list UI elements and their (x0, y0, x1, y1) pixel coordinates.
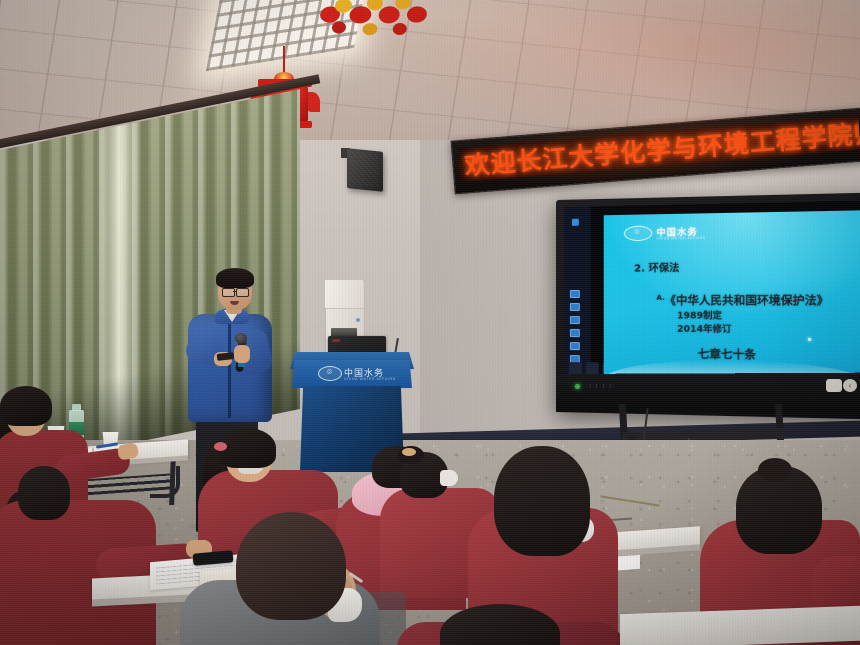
toolbar-icon[interactable] (570, 303, 580, 311)
slide-enacted-year: 1989制定 (677, 308, 722, 322)
slide-revised-year: 2014年修订 (677, 321, 731, 335)
slide-item-title: 《中华人民共和国环境保护法》 (665, 291, 829, 308)
presenter-jacket-zipper (228, 322, 231, 418)
toolbar-icon[interactable] (570, 290, 580, 298)
display-bezel-label: ·|·|·|·|· (586, 383, 616, 388)
display-bottom-bezel (556, 373, 860, 414)
glasses-lens-left-icon (222, 288, 235, 297)
hair-scrunchie (214, 442, 227, 451)
presenter-right-hand (234, 345, 250, 363)
student-head (18, 466, 70, 520)
ac-top-panel (325, 280, 363, 309)
slide-heading: 2. 环保法 (634, 259, 679, 275)
podium-logo-text-en: CHINA WATER AFFAIRS (344, 377, 396, 381)
slide-item-marker: A. (656, 294, 664, 302)
power-led-icon (575, 384, 580, 389)
toolbar-icon[interactable] (570, 342, 580, 350)
podium-decor-dots: · · · · · · · (314, 382, 380, 386)
ac-indicator-light (356, 318, 360, 322)
os-icon-strip[interactable] (570, 290, 582, 368)
toolbar-icon[interactable] (570, 316, 580, 324)
presentation-slide: ⌾ 中国水务 CHINA WATER AFFAIRS 2. 环保法 A. 《中华… (604, 210, 860, 391)
desk-rack-bar (150, 466, 180, 498)
glasses-bridge-icon (233, 291, 237, 292)
slide-logo-icon: ⌾ (631, 227, 643, 238)
student-head (236, 512, 346, 620)
display-button-right[interactable]: ‹ (843, 379, 857, 392)
podium-logo-icon: ⌾ (324, 367, 335, 378)
face-mask (440, 470, 458, 486)
os-left-toolbar[interactable] (564, 206, 591, 397)
presenter-hair (216, 268, 254, 288)
student-hair (218, 428, 276, 468)
student-hair (0, 386, 52, 426)
display-button-left[interactable] (826, 379, 842, 392)
student-hair (494, 446, 590, 556)
laptop-logo-icon (332, 339, 340, 342)
os-app-icon[interactable] (572, 219, 579, 226)
speaker-grille (350, 152, 378, 188)
toolbar-icon[interactable] (570, 329, 580, 337)
student-hair-bun (758, 458, 792, 482)
mouse-cursor-dot (808, 338, 811, 341)
slide-structure: 七章七十条 (698, 345, 756, 362)
slide-logo-text-en: CHINA WATER AFFAIRS (656, 236, 705, 241)
classroom-photo: 福 欢迎长江大学化学与环境工程学院师生一 (0, 0, 860, 645)
hair-scrunchie (402, 448, 416, 456)
glasses-lens-right-icon (236, 288, 249, 297)
